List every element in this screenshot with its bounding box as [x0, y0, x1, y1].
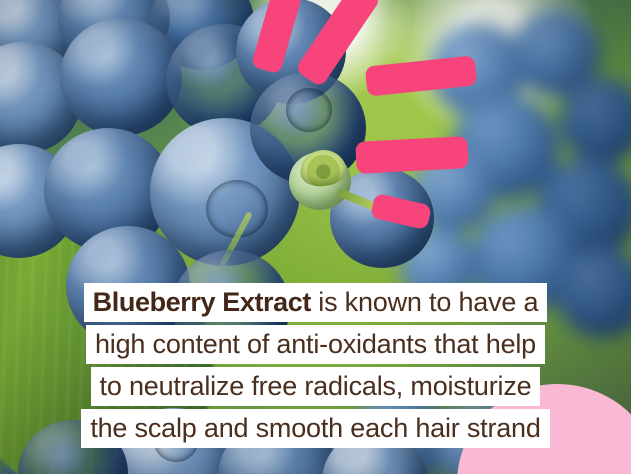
copy-line-2: high content of anti-oxidants that help: [86, 325, 545, 364]
burst-stroke-3: [365, 55, 478, 96]
burst-stroke-1: [251, 0, 304, 74]
copy-line-3: to neutralize free radicals, moisturize: [91, 367, 541, 406]
benefit-copy-block: Blueberry Extract is known to have a hig…: [0, 283, 631, 448]
copy-line-4: the scalp and smooth each hair strand: [81, 409, 549, 448]
burst-stroke-4: [355, 136, 469, 174]
copy-line-1-rest: is known to have a: [311, 287, 538, 317]
burst-stroke-5: [370, 193, 432, 230]
copy-line-1: Blueberry Extract is known to have a: [84, 283, 548, 322]
ingredient-card: Blueberry Extract is known to have a hig…: [0, 0, 631, 474]
ingredient-name-label: Blueberry Extract: [93, 287, 311, 317]
